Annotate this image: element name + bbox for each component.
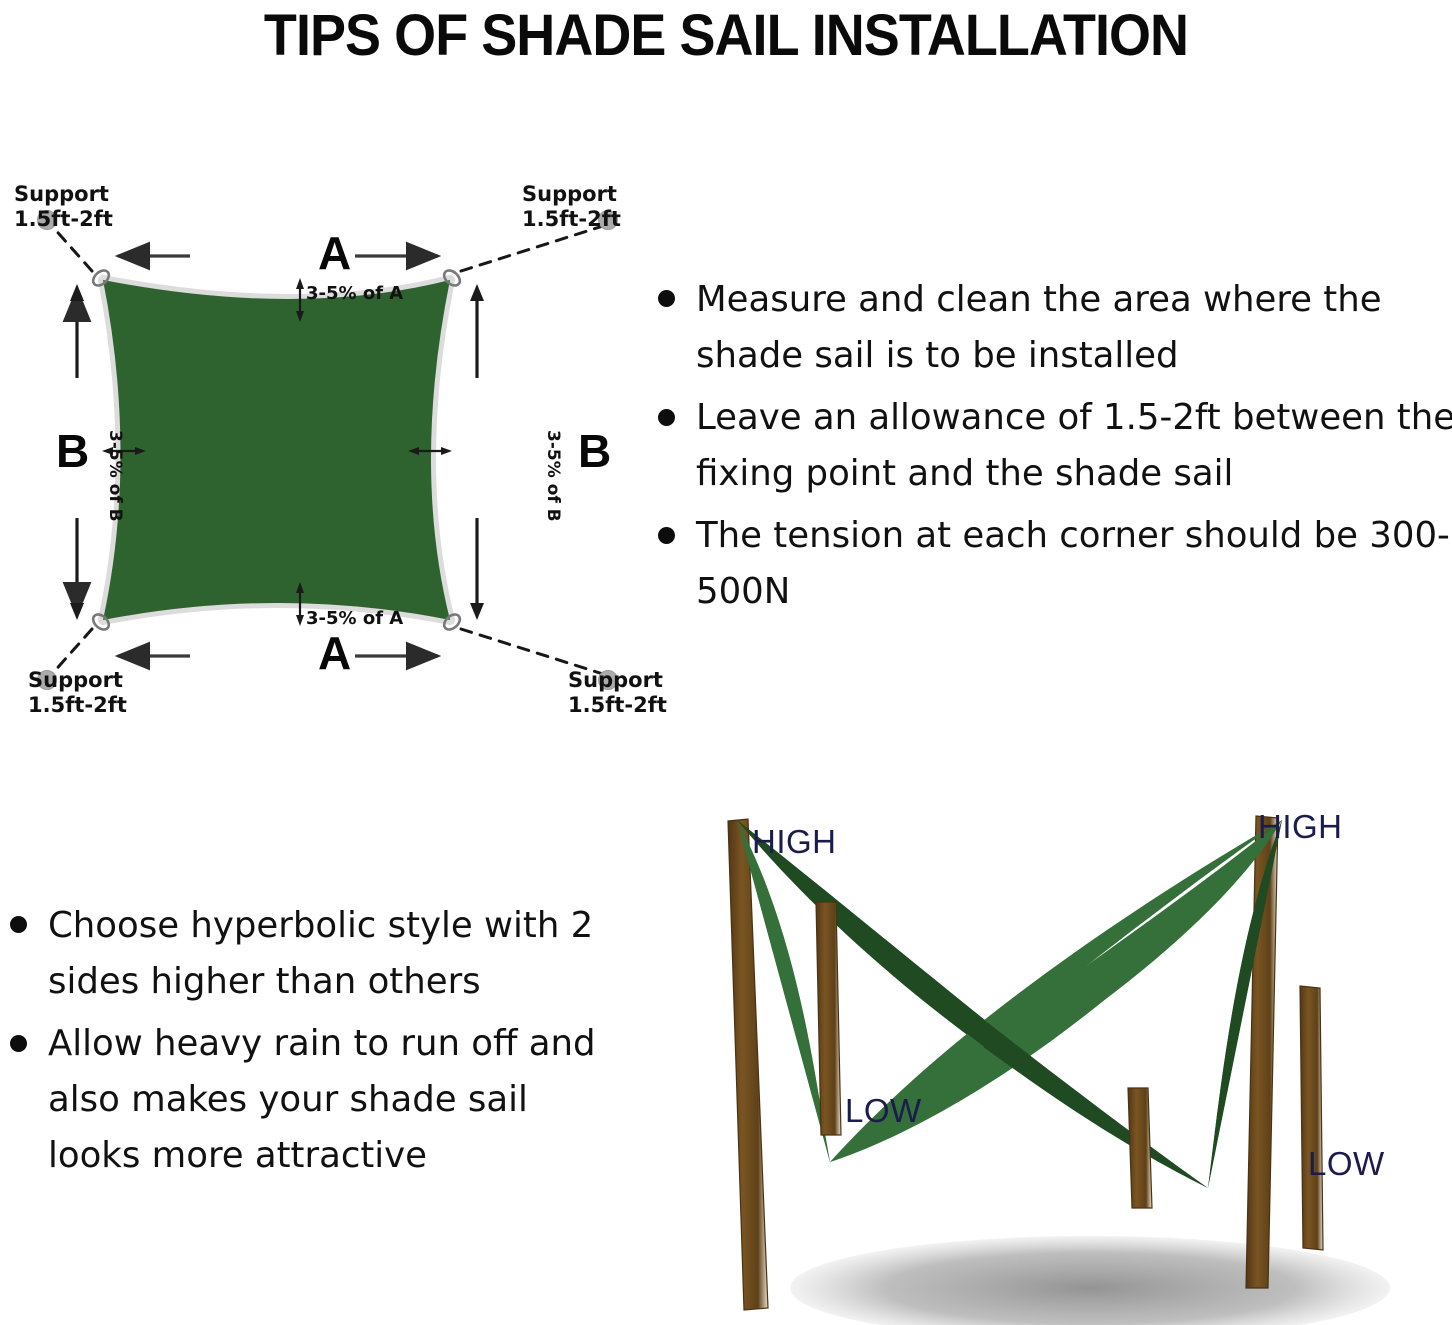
bullet-dot-icon xyxy=(10,1035,27,1052)
support-value-text: 1.5ft-2ft xyxy=(568,693,667,718)
support-value-text: 1.5ft-2ft xyxy=(28,693,127,718)
tips-list-right: Measure and clean the area where the sha… xyxy=(648,272,1452,626)
tip-text: Allow heavy rain to run off and also mak… xyxy=(48,1016,628,1184)
label-low-left: LOW xyxy=(845,1092,922,1130)
dimension-arrow-right-B xyxy=(470,284,484,620)
sag-label-top: 3-5% of A xyxy=(306,283,403,304)
bullet-dot-icon xyxy=(658,409,675,426)
support-label-text: Support xyxy=(568,668,667,693)
support-value-text: 1.5ft-2ft xyxy=(522,207,621,232)
support-label-text: Support xyxy=(28,668,127,693)
support-label-bottom-right: Support 1.5ft-2ft xyxy=(568,668,667,718)
dimension-label-bottom-A: A xyxy=(318,626,351,680)
bullet-dot-icon xyxy=(10,916,27,933)
ground-shadow xyxy=(790,1236,1390,1325)
sag-label-bottom: 3-5% of A xyxy=(306,608,403,629)
support-value-text: 1.5ft-2ft xyxy=(14,207,113,232)
tip-text: Choose hyperbolic style with 2 sides hig… xyxy=(48,898,628,1010)
page-title: TIPS OF SHADE SAIL INSTALLATION xyxy=(51,2,1401,69)
sail-shape xyxy=(103,280,450,620)
label-high-left: HIGH xyxy=(752,823,837,861)
tip-text: Leave an allowance of 1.5-2ft between th… xyxy=(696,390,1452,502)
support-label-top-left: Support 1.5ft-2ft xyxy=(14,182,113,232)
list-item: Measure and clean the area where the sha… xyxy=(648,272,1452,384)
tip-text: The tension at each corner should be 300… xyxy=(696,508,1452,620)
list-item: Allow heavy rain to run off and also mak… xyxy=(0,1016,628,1184)
tips-list-bottom: Choose hyperbolic style with 2 sides hig… xyxy=(0,898,628,1190)
bullet-dot-icon xyxy=(658,527,675,544)
infographic-page: TIPS OF SHADE SAIL INSTALLATION xyxy=(0,0,1452,1325)
label-high-right: HIGH xyxy=(1258,808,1343,846)
hyperbolic-sail-diagram xyxy=(640,790,1452,1325)
tip-text: Measure and clean the area where the sha… xyxy=(696,272,1452,384)
post-low-left xyxy=(816,902,841,1135)
dimension-label-left-B: B xyxy=(56,424,89,478)
dimension-label-top-A: A xyxy=(318,226,351,280)
support-label-text: Support xyxy=(522,182,621,207)
support-label-top-right: Support 1.5ft-2ft xyxy=(522,182,621,232)
bullet-dot-icon xyxy=(658,290,675,307)
list-item: Leave an allowance of 1.5-2ft between th… xyxy=(648,390,1452,502)
label-low-right: LOW xyxy=(1308,1145,1385,1183)
post-low-right xyxy=(1300,986,1323,1250)
list-item: Choose hyperbolic style with 2 sides hig… xyxy=(0,898,628,1010)
support-label-text: Support xyxy=(14,182,113,207)
list-item: The tension at each corner should be 300… xyxy=(648,508,1452,620)
dimension-label-right-B: B xyxy=(578,424,611,478)
support-label-bottom-left: Support 1.5ft-2ft xyxy=(28,668,127,718)
sag-label-right: 3-5% of B xyxy=(543,430,563,522)
sag-label-left: 3-5% of B xyxy=(105,430,125,522)
post-high-right-front-segment xyxy=(1128,1088,1152,1208)
